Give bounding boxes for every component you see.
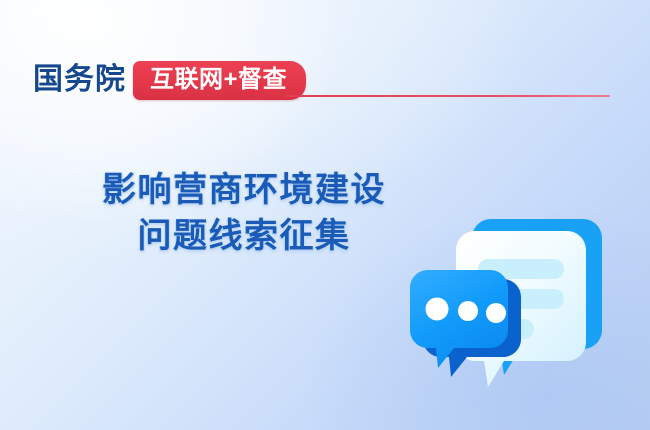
page-title-line-1: 影响营商环境建设 bbox=[38, 168, 450, 214]
banner-header: 国务院 互联网+督查 bbox=[33, 58, 306, 102]
badge-body: 互联网+督查 bbox=[133, 61, 306, 100]
header-divider-rule bbox=[285, 95, 610, 97]
badge-label: 互联网+督查 bbox=[150, 68, 287, 92]
promo-banner: 国务院 互联网+督查 影响营商环境建设 问题线索征集 bbox=[0, 0, 650, 430]
typing-dot-1 bbox=[426, 298, 449, 321]
typing-dot-2 bbox=[458, 301, 478, 321]
page-title: 影响营商环境建设 问题线索征集 bbox=[38, 168, 450, 259]
typing-dot-3 bbox=[486, 303, 506, 323]
page-title-line-2: 问题线索征集 bbox=[38, 214, 450, 260]
chat-bubbles-illustration bbox=[392, 196, 644, 408]
program-badge: 互联网+督查 bbox=[133, 61, 306, 100]
organization-name: 国务院 bbox=[33, 65, 126, 95]
